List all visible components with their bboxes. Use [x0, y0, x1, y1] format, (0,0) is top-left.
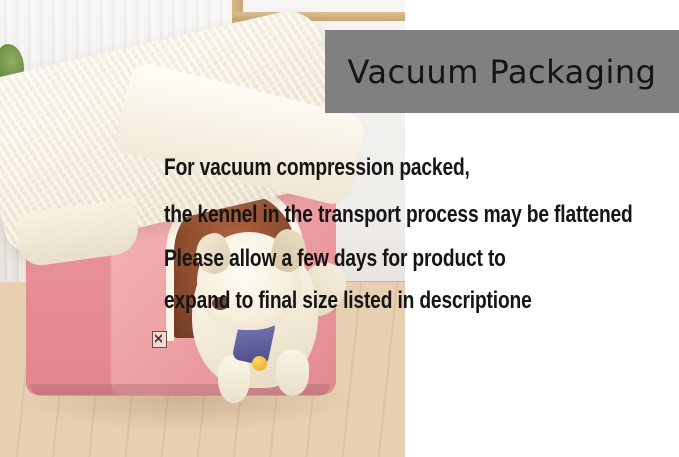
- care-label-tag: [152, 331, 167, 348]
- vacuum-packaging-banner: Vacuum Packaging: [325, 30, 679, 113]
- dog-paw-left: [218, 355, 250, 403]
- body-copy-line-3: Please allow a few days for product to: [164, 247, 506, 271]
- banner-title: Vacuum Packaging: [348, 53, 657, 91]
- promo-banner-page: Vacuum Packaging For vacuum compression …: [0, 0, 679, 457]
- body-copy-line-4: expand to final size listed in descripti…: [164, 289, 532, 313]
- body-copy-line-2: the kennel in the transport process may …: [164, 203, 633, 227]
- dog-collar-bell: [252, 356, 267, 371]
- dog-paw-right: [276, 350, 309, 396]
- body-copy-line-1: For vacuum compression packed,: [164, 156, 470, 180]
